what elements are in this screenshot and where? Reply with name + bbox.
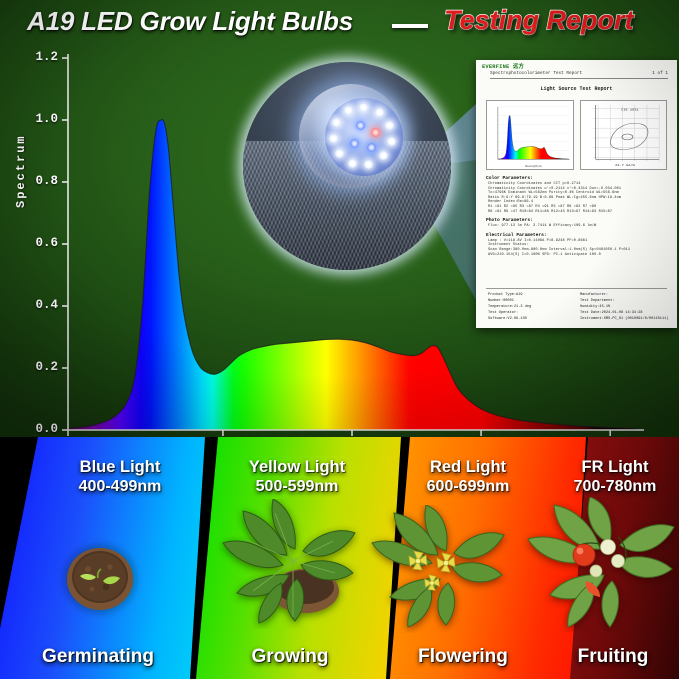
report-title: Light Source Test Report (476, 86, 677, 92)
band-name: FR Light (540, 457, 679, 477)
y-tick-label: 0.2 (22, 360, 58, 374)
report-section-title: Color Parameters: (486, 176, 533, 181)
y-axis-label: Spectrum (14, 134, 28, 208)
report-footer-cell: Temperature:21.3 deg (488, 305, 531, 309)
stage-label-germinating: Germinating (8, 646, 188, 668)
report-line: R8 =81 R9 =47 R10=84 R11=88 R12=43 R13=9… (488, 210, 612, 214)
mini-chart-note: 24.7 mA/W (615, 163, 635, 167)
report-line: Flux: 977.13 lm PA: 3.7414 W Efficacy:10… (488, 224, 596, 228)
band-range: 400-499nm (40, 477, 200, 497)
plant-seedling-in-pot (48, 519, 158, 619)
bulb-photo (243, 62, 451, 270)
report-line: Chromaticity Coordinates and CCT p=0.271… (488, 182, 581, 186)
band-name: Yellow Light (212, 457, 382, 477)
report-footer-cell: Product Type:A19 (488, 293, 523, 297)
report-divider (486, 288, 667, 289)
report-footer-cell: Software:V2.09.130 (488, 317, 527, 321)
report-line: Render Index:Ra=86.4 (488, 200, 533, 204)
report-footer-cell: Test Department: (580, 299, 615, 303)
everfine-logo: EVERFINE 远方 (482, 62, 524, 70)
plant-flowering (360, 505, 510, 633)
report-footer-cell: Instrument:SMS-PC_01 (0010091/0/00110111… (580, 317, 668, 321)
report-line: R1 =91 R2 =95 R3 =87 R4 =91 R5 =87 R6 =8… (488, 205, 596, 209)
stage-label-flowering: Flowering (368, 646, 558, 668)
header: A19 LED Grow Light Bulbs Testing Report (0, 0, 679, 48)
title-accent: Testing Report (444, 5, 634, 36)
report-section-title: Electrical Parameters: (486, 233, 547, 238)
report-header: Spectrophotocolorimeter Test Report 1 of… (490, 71, 668, 79)
report-footer-cell: Number:00001 (488, 299, 514, 303)
svg-text:CIE 1931: CIE 1931 (621, 108, 639, 112)
stage-label-fruiting: Fruiting (538, 646, 679, 668)
band-range: 600-699nm (388, 477, 548, 497)
page-title: A19 LED Grow Light Bulbs (27, 6, 353, 37)
infographic-root: A19 LED Grow Light Bulbs Testing Report … (0, 0, 679, 679)
plant-young-leafy (205, 499, 360, 629)
report-section-title: Photo Parameters: (486, 218, 533, 223)
report-footer-cell: Test Operator: (488, 311, 518, 315)
band-label-yellow: Yellow Light 500-599nm (212, 457, 382, 497)
report-footer-cell: Humidity:45.1% (580, 305, 610, 309)
report-line: Tc=4796K Dominant WL=582nm Purity=0.4% C… (488, 191, 619, 195)
plant-fruiting-tomato (520, 497, 679, 632)
stage-label-growing: Growing (205, 646, 375, 668)
report-header-right: 1 of 1 (652, 71, 668, 76)
y-tick-label: 1.2 (22, 50, 58, 64)
led-board (325, 98, 403, 176)
report-charts: Wavelength(nm) 24.7 mA/W CIE 1931 (486, 100, 667, 170)
band-label-red: Red Light 600-699nm (388, 457, 548, 497)
y-tick-label: 0.0 (22, 422, 58, 436)
band-range: 700-780nm (540, 477, 679, 497)
growth-stage-bands: Blue Light 400-499nm Yellow Light 500-59… (0, 437, 679, 679)
report-header-left: Spectrophotocolorimeter Test Report (490, 71, 582, 76)
report-footer-cell: Test Date:2024-01-08 14:34:28 (580, 311, 643, 315)
title-divider (392, 24, 428, 28)
y-tick-label: 0.6 (22, 236, 58, 250)
report-line: Scan Range:380.0nm-800.0nm Interval:1.0n… (488, 248, 630, 252)
y-tick-label: 0.4 (22, 298, 58, 312)
report-chromaticity-thumb: 24.7 mA/W CIE 1931 (580, 100, 668, 170)
bulb-circle-frame (243, 62, 451, 270)
report-line: Instrument Status: (488, 243, 529, 247)
band-label-fr: FR Light 700-780nm (540, 457, 679, 497)
band-range: 500-599nm (212, 477, 382, 497)
test-report-document: EVERFINE 远方 Spectrophotocolorimeter Test… (476, 60, 677, 328)
report-line: AVG=210.154(S) I=0.100% SPD: PC-1 Antici… (488, 253, 601, 257)
report-spectrum-thumb: Wavelength(nm) (486, 100, 574, 170)
y-tick-label: 0.8 (22, 174, 58, 188)
band-name: Blue Light (40, 457, 200, 477)
y-tick-label: 1.0 (22, 112, 58, 126)
band-label-blue: Blue Light 400-499nm (40, 457, 200, 497)
band-name: Red Light (388, 457, 548, 477)
report-line: Chromaticity Coordinates u'=0.2114 v'=0.… (488, 187, 621, 191)
report-footer-cell: Manufacturer: (580, 293, 608, 297)
svg-text:Wavelength(nm): Wavelength(nm) (525, 165, 542, 168)
